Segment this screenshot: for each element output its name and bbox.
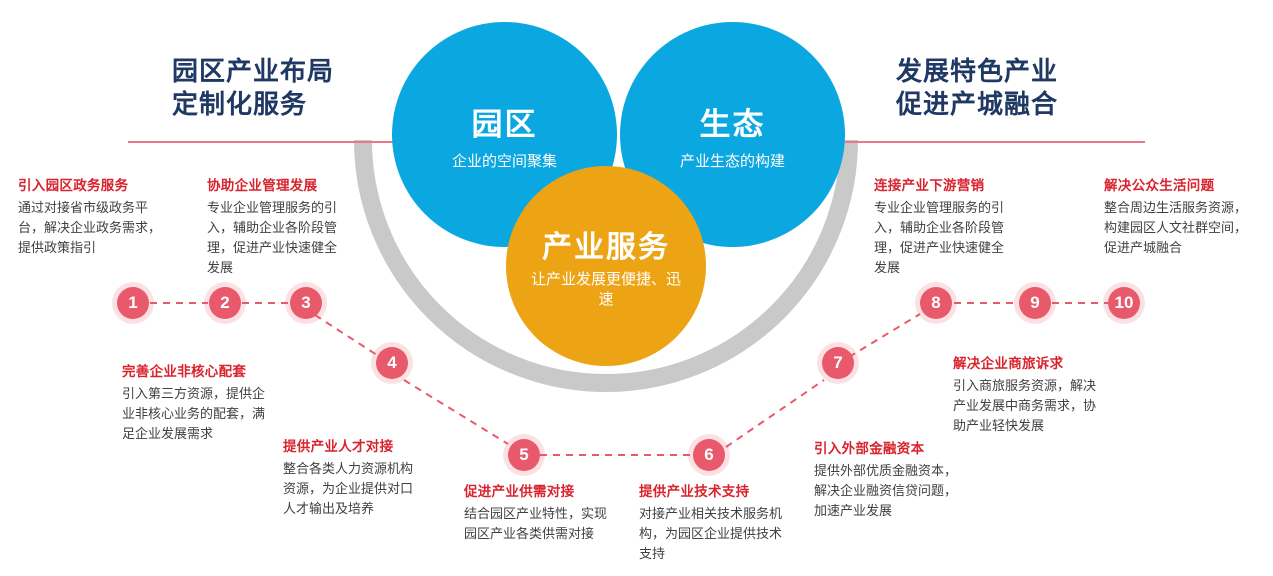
item-title-9: 连接产业下游营销 [874, 174, 1012, 194]
bubble-industry-service-title: 产业服务 [542, 222, 670, 266]
item-body-8: 引入商旅服务资源，解决产业发展中商务需求，协助产业轻快发展 [953, 376, 1105, 436]
item-block-4: 完善企业非核心配套 引入第三方资源，提供企业非核心业务的配套，满足企业发展需求 [122, 360, 274, 444]
marker-5[interactable]: 5 [508, 439, 540, 471]
item-body-9: 专业企业管理服务的引入，辅助企业各阶段管理，促进产业快速健全发展 [874, 198, 1012, 279]
bubble-park-subtitle: 企业的空间聚集 [452, 150, 557, 171]
item-title-1: 引入园区政务服务 [18, 174, 168, 194]
marker-8[interactable]: 8 [920, 287, 952, 319]
item-body-3: 整合各类人力资源机构资源，为企业提供对口人才输出及培养 [283, 459, 423, 519]
item-block-10: 解决公众生活问题 整合周边生活服务资源，构建园区人文社群空间，促进产城融合 [1104, 174, 1256, 258]
item-block-1: 引入园区政务服务 通过对接省市级政务平台，解决企业政务需求，提供政策指引 [18, 174, 168, 258]
item-body-2: 专业企业管理服务的引入，辅助企业各阶段管理，促进产业快速健全发展 [207, 198, 345, 279]
item-block-2: 协助企业管理发展 专业企业管理服务的引入，辅助企业各阶段管理，促进产业快速健全发… [207, 174, 345, 279]
diagram-canvas: 园区产业布局 定制化服务 发展特色产业 促进产城融合 园区 企业的空间聚集 生态… [0, 0, 1273, 576]
item-body-7: 提供外部优质金融资本，解决企业融资信贷问题，加速产业发展 [814, 461, 966, 521]
marker-4[interactable]: 4 [376, 347, 408, 379]
divider-rule-left [128, 141, 428, 143]
bubble-industry-service[interactable]: 产业服务 让产业发展更便捷、迅速 [506, 166, 706, 366]
marker-2[interactable]: 2 [209, 287, 241, 319]
item-block-9: 连接产业下游营销 专业企业管理服务的引入，辅助企业各阶段管理，促进产业快速健全发… [874, 174, 1012, 279]
item-title-10: 解决公众生活问题 [1104, 174, 1256, 194]
marker-9[interactable]: 9 [1019, 287, 1051, 319]
item-block-8: 解决企业商旅诉求 引入商旅服务资源，解决产业发展中商务需求，协助产业轻快发展 [953, 352, 1105, 436]
marker-10[interactable]: 10 [1108, 287, 1140, 319]
item-block-6: 提供产业技术支持 对接产业相关技术服务机构，为园区企业提供技术支持 [639, 480, 791, 564]
item-body-4: 引入第三方资源，提供企业非核心业务的配套，满足企业发展需求 [122, 384, 274, 444]
divider-rule-right [845, 141, 1145, 143]
headline-right: 发展特色产业 促进产城融合 [896, 55, 1058, 120]
item-title-4: 完善企业非核心配套 [122, 360, 274, 380]
item-block-5: 促进产业供需对接 结合园区产业特性，实现园区产业各类供需对接 [464, 480, 616, 544]
item-title-2: 协助企业管理发展 [207, 174, 345, 194]
bubble-ecosystem-title: 生态 [700, 99, 766, 144]
bubble-park-title: 园区 [472, 99, 538, 144]
item-body-5: 结合园区产业特性，实现园区产业各类供需对接 [464, 504, 616, 544]
item-block-7: 引入外部金融资本 提供外部优质金融资本，解决企业融资信贷问题，加速产业发展 [814, 437, 966, 521]
marker-1[interactable]: 1 [117, 287, 149, 319]
bubble-industry-service-subtitle: 让产业发展更便捷、迅速 [531, 270, 681, 311]
headline-left: 园区产业布局 定制化服务 [172, 55, 334, 120]
bubble-ecosystem-subtitle: 产业生态的构建 [680, 150, 785, 171]
item-title-3: 提供产业人才对接 [283, 435, 423, 455]
item-body-1: 通过对接省市级政务平台，解决企业政务需求，提供政策指引 [18, 198, 168, 258]
item-title-8: 解决企业商旅诉求 [953, 352, 1105, 372]
item-title-5: 促进产业供需对接 [464, 480, 616, 500]
marker-7[interactable]: 7 [822, 347, 854, 379]
item-title-7: 引入外部金融资本 [814, 437, 966, 457]
item-title-6: 提供产业技术支持 [639, 480, 791, 500]
item-body-10: 整合周边生活服务资源，构建园区人文社群空间，促进产城融合 [1104, 198, 1256, 258]
item-body-6: 对接产业相关技术服务机构，为园区企业提供技术支持 [639, 504, 791, 564]
item-block-3: 提供产业人才对接 整合各类人力资源机构资源，为企业提供对口人才输出及培养 [283, 435, 423, 519]
marker-6[interactable]: 6 [693, 439, 725, 471]
marker-3[interactable]: 3 [290, 287, 322, 319]
